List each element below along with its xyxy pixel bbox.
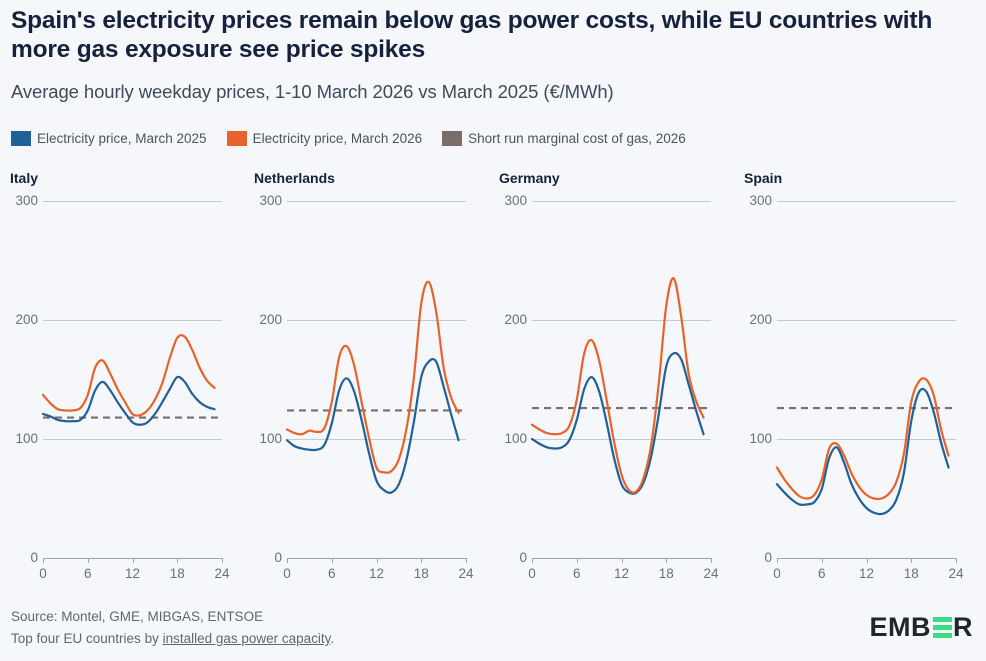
source-line: Source: Montel, GME, MIBGAS, ENTSOE [11,606,334,628]
series-layer-spain [744,194,977,590]
legend-electricity-2026-swatch-icon [227,131,247,146]
legend-electricity-2025-label: Electricity price, March 2025 [37,131,207,146]
ember-logo-text-2: R [953,612,973,643]
note-line: Top four EU countries by installed gas p… [11,628,334,650]
legend-electricity-2025-swatch-icon [11,131,31,146]
panel-netherlands: Netherlands300200100006121824 [254,170,487,590]
plot-area-netherlands: 300200100006121824 [254,194,487,590]
panel-italy: Italy300200100006121824 [10,170,243,590]
ember-logo-e-bars-icon [933,617,952,638]
series-layer-germany [499,194,732,590]
line-spain-2026 [777,378,949,499]
plot-area-italy: 300200100006121824 [10,194,243,590]
chart-legend: Electricity price, March 2025Electricity… [11,128,706,148]
installed-gas-power-capacity-link[interactable]: installed gas power capacity [163,631,331,646]
panel-title-germany: Germany [499,170,560,186]
ember-logo: EMB R [870,612,974,643]
series-layer-italy [10,194,243,590]
note-prefix: Top four EU countries by [11,631,163,646]
panel-title-spain: Spain [744,170,782,186]
legend-gas-srmc-label: Short run marginal cost of gas, 2026 [468,131,686,146]
line-netherlands-2026 [287,282,459,473]
panel-germany: Germany300200100006121824 [499,170,732,590]
series-layer-netherlands [254,194,487,590]
panel-title-italy: Italy [10,170,38,186]
legend-electricity-2026-label: Electricity price, March 2026 [253,131,423,146]
legend-electricity-2025[interactable]: Electricity price, March 2025 [11,131,207,146]
note-suffix: . [330,631,334,646]
line-netherlands-2025 [287,359,459,493]
panel-title-netherlands: Netherlands [254,170,335,186]
panel-spain: Spain300200100006121824 [744,170,977,590]
footer: Source: Montel, GME, MIBGAS, ENTSOE Top … [11,606,334,650]
legend-gas-srmc-swatch-icon [442,131,462,146]
plot-area-spain: 300200100006121824 [744,194,977,590]
chart-page: Spain's electricity prices remain below … [0,0,986,661]
legend-gas-srmc[interactable]: Short run marginal cost of gas, 2026 [442,131,686,146]
page-title: Spain's electricity prices remain below … [11,6,961,64]
legend-electricity-2026[interactable]: Electricity price, March 2026 [227,131,423,146]
page-subtitle: Average hourly weekday prices, 1-10 Marc… [11,80,961,104]
ember-logo-text-1: EMB [870,612,932,643]
line-germany-2025 [532,353,704,494]
line-germany-2026 [532,278,704,493]
plot-area-germany: 300200100006121824 [499,194,732,590]
line-italy-2026 [43,335,215,416]
